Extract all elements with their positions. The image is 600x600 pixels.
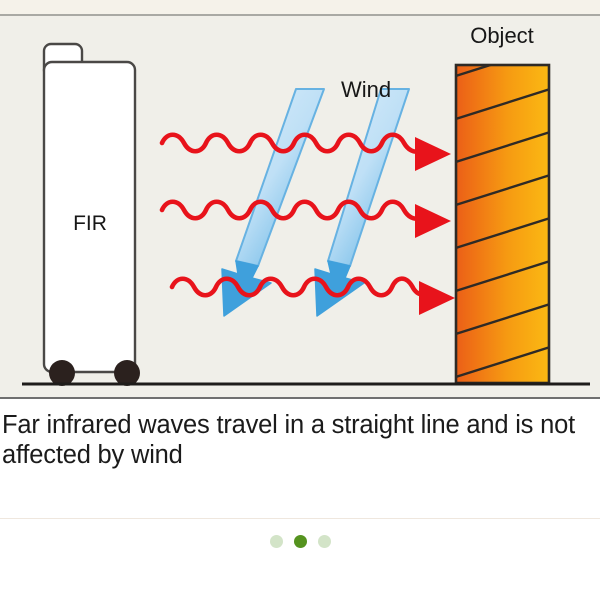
fir-device-label: FIR: [73, 212, 107, 235]
object-label: Object: [470, 23, 534, 48]
fir-device-wheel-left: [49, 360, 75, 386]
slide-viewer: FIR Wind Object Far infrared waves trave…: [0, 0, 600, 600]
footer-divider: [0, 518, 600, 519]
caption-band: Far infrared waves travel in a straight …: [0, 397, 600, 518]
fir-device: FIR: [44, 44, 140, 386]
pagination-dot-2[interactable]: [294, 535, 307, 548]
pagination-dot-3[interactable]: [318, 535, 331, 548]
fir-wind-diagram: FIR Wind Object: [0, 16, 600, 397]
pagination-dot-1[interactable]: [270, 535, 283, 548]
caption-divider: [0, 397, 600, 399]
diagram-panel: FIR Wind Object: [0, 16, 600, 397]
wind-label: Wind: [341, 77, 391, 102]
object-block: [440, 41, 566, 397]
footer-space: [0, 556, 600, 600]
pagination-dots[interactable]: [0, 533, 600, 549]
fir-device-wheel-right: [114, 360, 140, 386]
slide-caption: Far infrared waves travel in a straight …: [2, 410, 594, 470]
top-band: [0, 0, 600, 14]
